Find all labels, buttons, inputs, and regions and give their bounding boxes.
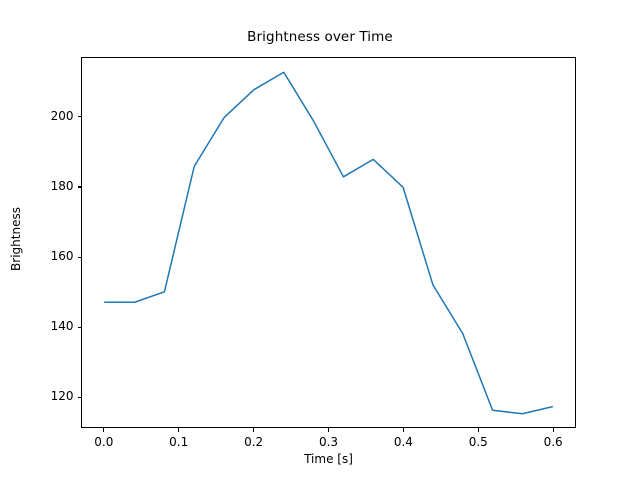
x-tick-mark [403,428,404,432]
plot-axes [81,57,576,428]
brightness-series-line [105,72,553,413]
x-tick-label: 0.3 [299,435,359,449]
y-tick-label: 120 [14,389,74,403]
y-tick-label: 140 [14,319,74,333]
y-axis-label: Brightness [9,159,23,319]
x-tick-label: 0.2 [224,435,284,449]
x-tick-mark [178,428,179,432]
x-tick-label: 0.1 [149,435,209,449]
chart-figure: Brightness over Time 1201401601802000.00… [0,0,640,480]
chart-title: Brightness over Time [0,29,640,45]
x-tick-label: 0.5 [448,435,508,449]
x-tick-label: 0.0 [74,435,134,449]
x-tick-label: 0.4 [373,435,433,449]
y-tick-label: 200 [14,109,74,123]
x-tick-mark [328,428,329,432]
x-tick-mark [253,428,254,432]
x-tick-mark [103,428,104,432]
x-axis-label: Time [s] [81,452,576,466]
x-tick-mark [478,428,479,432]
x-tick-mark [553,428,554,432]
x-tick-label: 0.6 [523,435,583,449]
plot-area [82,58,575,427]
